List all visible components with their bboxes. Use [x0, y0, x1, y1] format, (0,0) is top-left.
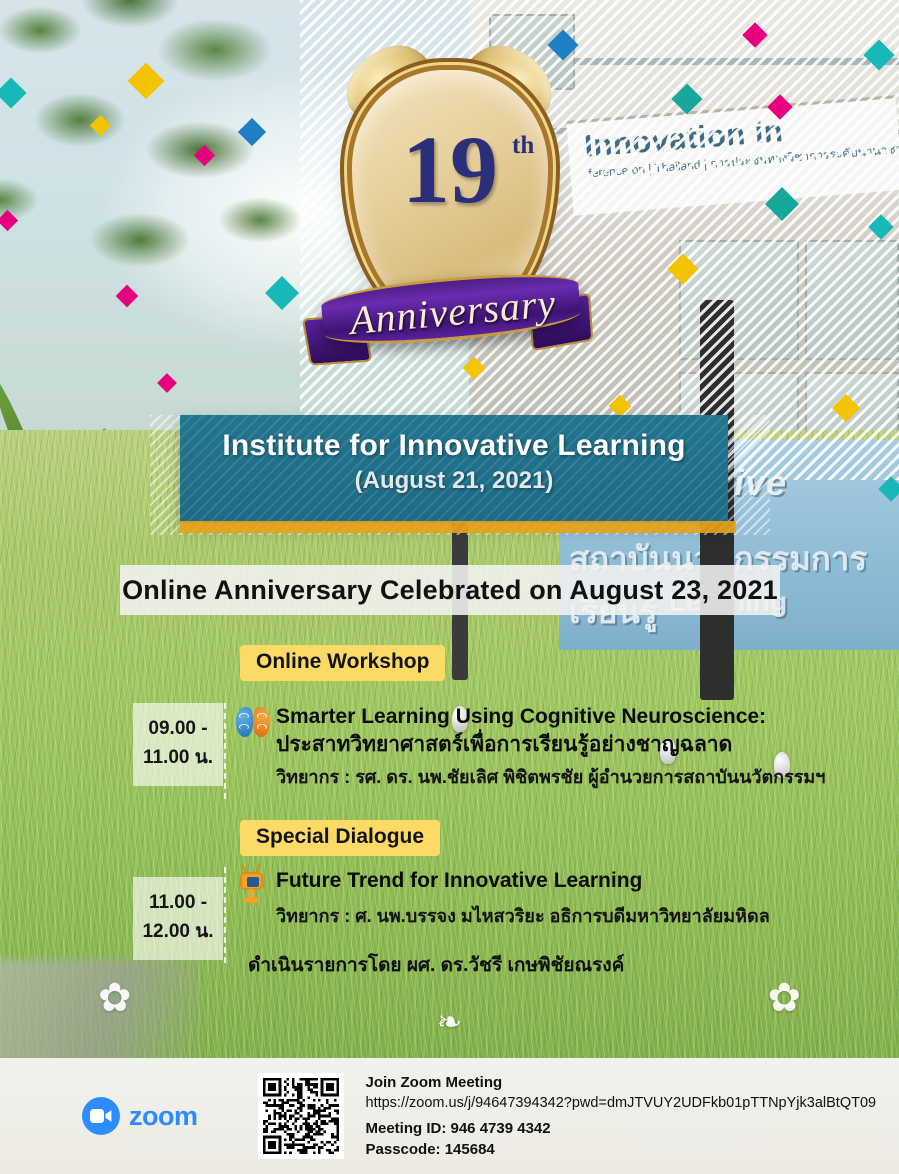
qr-code[interactable] [258, 1073, 344, 1159]
time-workshop-end: 11.00 น. [141, 744, 215, 773]
headline-text: Online Anniversary Celebrated on August … [122, 575, 778, 606]
zoom-wordmark: zoom [129, 1101, 198, 1132]
zoom-camera-icon [82, 1097, 120, 1135]
time-dialogue-start: 11.00 - [141, 889, 215, 918]
dialogue-speaker: วิทยากร : ศ. นพ.บรรจง มไหสวริยะ อธิการบด… [276, 904, 886, 929]
filigree-ornament-left: ✿ [98, 978, 132, 1018]
anniversary-poster: Innovation in ference on | Thailand | กา… [0, 0, 899, 1174]
program-item-dialogue: Future Trend for Innovative Learning วิท… [236, 867, 886, 929]
tv-robot-icon [236, 863, 270, 897]
headline-bar: Online Anniversary Celebrated on August … [120, 565, 780, 615]
divider-dialogue [224, 867, 226, 963]
brain-icon [236, 707, 270, 741]
time-box-dialogue: 11.00 - 12.00 น. [133, 877, 223, 960]
time-workshop-start: 09.00 - [141, 715, 215, 744]
anniversary-ribbon: Anniversary [304, 264, 596, 368]
passcode: Passcode: 145684 [366, 1141, 877, 1158]
zoom-footer: zoom Join Zoom Meeting https://zoom.us/j… [0, 1058, 899, 1174]
pill-special-dialogue: Special Dialogue [240, 820, 440, 856]
filigree-ornament-right: ✿ [767, 978, 801, 1018]
join-label: Join Zoom Meeting [366, 1074, 877, 1091]
institute-date: (August 21, 2021) [180, 463, 728, 495]
meeting-url[interactable]: https://zoom.us/j/94647394342?pwd=dmJTVU… [366, 1095, 877, 1111]
workshop-title-th: ประสาทวิทยาศาสตร์เพื่อการเรียนรู้อย่างชา… [276, 730, 886, 760]
program-section: Online Workshop 09.00 - 11.00 น. Smarter… [0, 645, 899, 975]
emblem-ordinal: th [512, 132, 534, 160]
anniversary-emblem: 19 th Anniversary [300, 42, 600, 397]
time-dialogue-end: 12.00 น. [141, 918, 215, 947]
divider-workshop [224, 703, 226, 799]
pill-online-workshop: Online Workshop [240, 645, 445, 681]
institute-title: Institute for Innovative Learning [180, 415, 728, 463]
moderator-line: ดำเนินรายการโดย ผศ. ดร.วัชรี เกษพิชัยณรง… [248, 950, 624, 980]
institute-banner: Institute for Innovative Learning (Augus… [180, 415, 728, 523]
dialogue-title-en: Future Trend for Innovative Learning [276, 867, 886, 894]
meeting-id: Meeting ID: 946 4739 4342 [366, 1120, 877, 1137]
program-item-workshop: Smarter Learning Using Cognitive Neurosc… [236, 703, 886, 790]
time-box-workshop: 09.00 - 11.00 น. [133, 703, 223, 786]
join-info: Join Zoom Meeting https://zoom.us/j/9464… [366, 1074, 877, 1158]
workshop-title-en: Smarter Learning Using Cognitive Neurosc… [276, 703, 886, 730]
zoom-logo: zoom [82, 1097, 198, 1135]
filigree-ornament-center: ❧ [437, 1008, 462, 1038]
workshop-speaker: วิทยากร : รศ. ดร. นพ.ชัยเลิศ พิชิตพรชัย … [276, 765, 886, 790]
